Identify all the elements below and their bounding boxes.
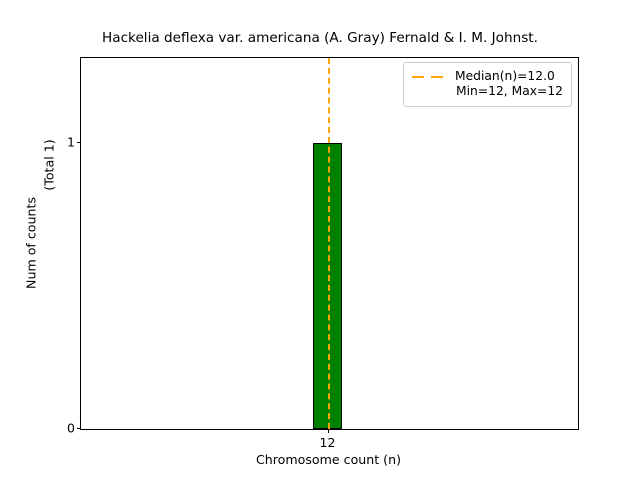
chart-legend[interactable]: Median(n)=12.0 Min=12, Max=12	[403, 62, 572, 107]
y-tick-mark-1	[77, 142, 81, 143]
x-tick-mark-12	[328, 429, 329, 433]
y-axis-label-container: Num of counts	[22, 57, 40, 428]
chart-figure: Hackelia deflexa var. americana (A. Gray…	[0, 0, 640, 480]
legend-entry-minmax: Min=12, Max=12	[412, 84, 563, 99]
x-tick-label-12: 12	[320, 435, 336, 450]
legend-entry-median: Median(n)=12.0	[412, 69, 563, 84]
legend-label-minmax: Min=12, Max=12	[456, 84, 563, 99]
plot-area: 0 1 12	[80, 57, 579, 430]
chart-title: Hackelia deflexa var. americana (A. Gray…	[0, 30, 640, 46]
y-tick-mark-0	[77, 428, 81, 429]
median-line	[328, 58, 330, 429]
y-tick-label-1: 1	[67, 135, 75, 150]
y-tick-label-0: 0	[67, 421, 75, 436]
y-axis-total-label-container: (Total 1)	[40, 110, 58, 220]
plot-inner: 0 1 12	[81, 58, 578, 429]
x-axis-label: Chromosome count (n)	[80, 452, 577, 467]
dashed-line-icon	[412, 71, 446, 83]
y-axis-total-label: (Total 1)	[42, 139, 57, 190]
y-axis-label: Num of counts	[24, 197, 39, 289]
legend-label-median: Median(n)=12.0	[455, 69, 555, 84]
